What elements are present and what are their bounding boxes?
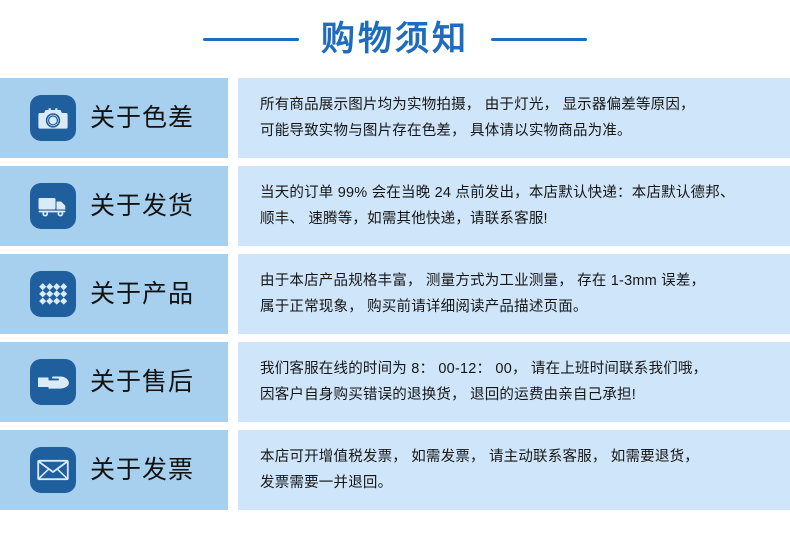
truck-icon	[30, 183, 76, 229]
notice-text-line: 发票需要一并退回。	[260, 470, 774, 496]
notice-label: 关于色差	[90, 106, 194, 131]
camera-icon	[30, 95, 76, 141]
envelope-icon	[30, 447, 76, 493]
notice-left-panel: 关于产品	[0, 254, 228, 334]
notice-left-panel: 关于发货	[0, 166, 228, 246]
notice-label: 关于发货	[90, 194, 194, 219]
notice-right-panel: 所有商品展示图片均为实物拍摄， 由于灯光， 显示器偏差等原因， 可能导致实物与图…	[238, 78, 790, 158]
notice-left-panel: 关于售后	[0, 342, 228, 422]
notice-row: 关于发票 本店可开增值税发票， 如需发票， 请主动联系客服， 如需要退货， 发票…	[0, 430, 790, 510]
notice-right-panel: 当天的订单 99% 会在当晚 24 点前发出，本店默认快递：本店默认德邦、 顺丰…	[238, 166, 790, 246]
notice-left-panel: 关于发票	[0, 430, 228, 510]
notice-left-panel: 关于色差	[0, 78, 228, 158]
title-rule-right	[491, 38, 587, 41]
grid-dots-icon	[30, 271, 76, 317]
notice-label: 关于售后	[90, 370, 194, 395]
notice-text-line: 属于正常现象， 购买前请详细阅读产品描述页面。	[260, 294, 774, 320]
notice-label: 关于产品	[90, 282, 194, 307]
notice-label: 关于发票	[90, 458, 194, 483]
notice-row: 关于色差 所有商品展示图片均为实物拍摄， 由于灯光， 显示器偏差等原因， 可能导…	[0, 78, 790, 158]
notice-row: 关于产品 由于本店产品规格丰富， 测量方式为工业测量， 存在 1-3mm 误差，…	[0, 254, 790, 334]
notice-text-line: 可能导致实物与图片存在色差， 具体请以实物商品为准。	[260, 118, 774, 144]
pointing-hand-icon	[30, 359, 76, 405]
notice-right-panel: 我们客服在线的时间为 8： 00-12： 00， 请在上班时间联系我们哦， 因客…	[238, 342, 790, 422]
notice-text-line: 我们客服在线的时间为 8： 00-12： 00， 请在上班时间联系我们哦，	[260, 356, 774, 382]
notice-text-line: 因客户自身购买错误的退换货， 退回的运费由亲自己承担!	[260, 382, 774, 408]
notice-text-line: 本店可开增值税发票， 如需发票， 请主动联系客服， 如需要退货，	[260, 444, 774, 470]
title-rule-left	[203, 38, 299, 41]
notice-text-line: 顺丰、 速腾等，如需其他快递，请联系客服!	[260, 206, 774, 232]
notice-right-panel: 本店可开增值税发票， 如需发票， 请主动联系客服， 如需要退货， 发票需要一并退…	[238, 430, 790, 510]
notice-list: 关于色差 所有商品展示图片均为实物拍摄， 由于灯光， 显示器偏差等原因， 可能导…	[0, 78, 790, 510]
shopping-notice-page: 购物须知 关于色差 所有商品展示图片均为实物拍摄， 由于灯光， 显示器偏差等原因…	[0, 0, 790, 533]
notice-text-line: 所有商品展示图片均为实物拍摄， 由于灯光， 显示器偏差等原因，	[260, 92, 774, 118]
page-title-bar: 购物须知	[0, 0, 790, 78]
notice-row: 关于售后 我们客服在线的时间为 8： 00-12： 00， 请在上班时间联系我们…	[0, 342, 790, 422]
notice-right-panel: 由于本店产品规格丰富， 测量方式为工业测量， 存在 1-3mm 误差， 属于正常…	[238, 254, 790, 334]
notice-text-line: 由于本店产品规格丰富， 测量方式为工业测量， 存在 1-3mm 误差，	[260, 268, 774, 294]
page-title: 购物须知	[321, 22, 469, 56]
notice-text-line: 当天的订单 99% 会在当晚 24 点前发出，本店默认快递：本店默认德邦、	[260, 180, 774, 206]
notice-row: 关于发货 当天的订单 99% 会在当晚 24 点前发出，本店默认快递：本店默认德…	[0, 166, 790, 246]
